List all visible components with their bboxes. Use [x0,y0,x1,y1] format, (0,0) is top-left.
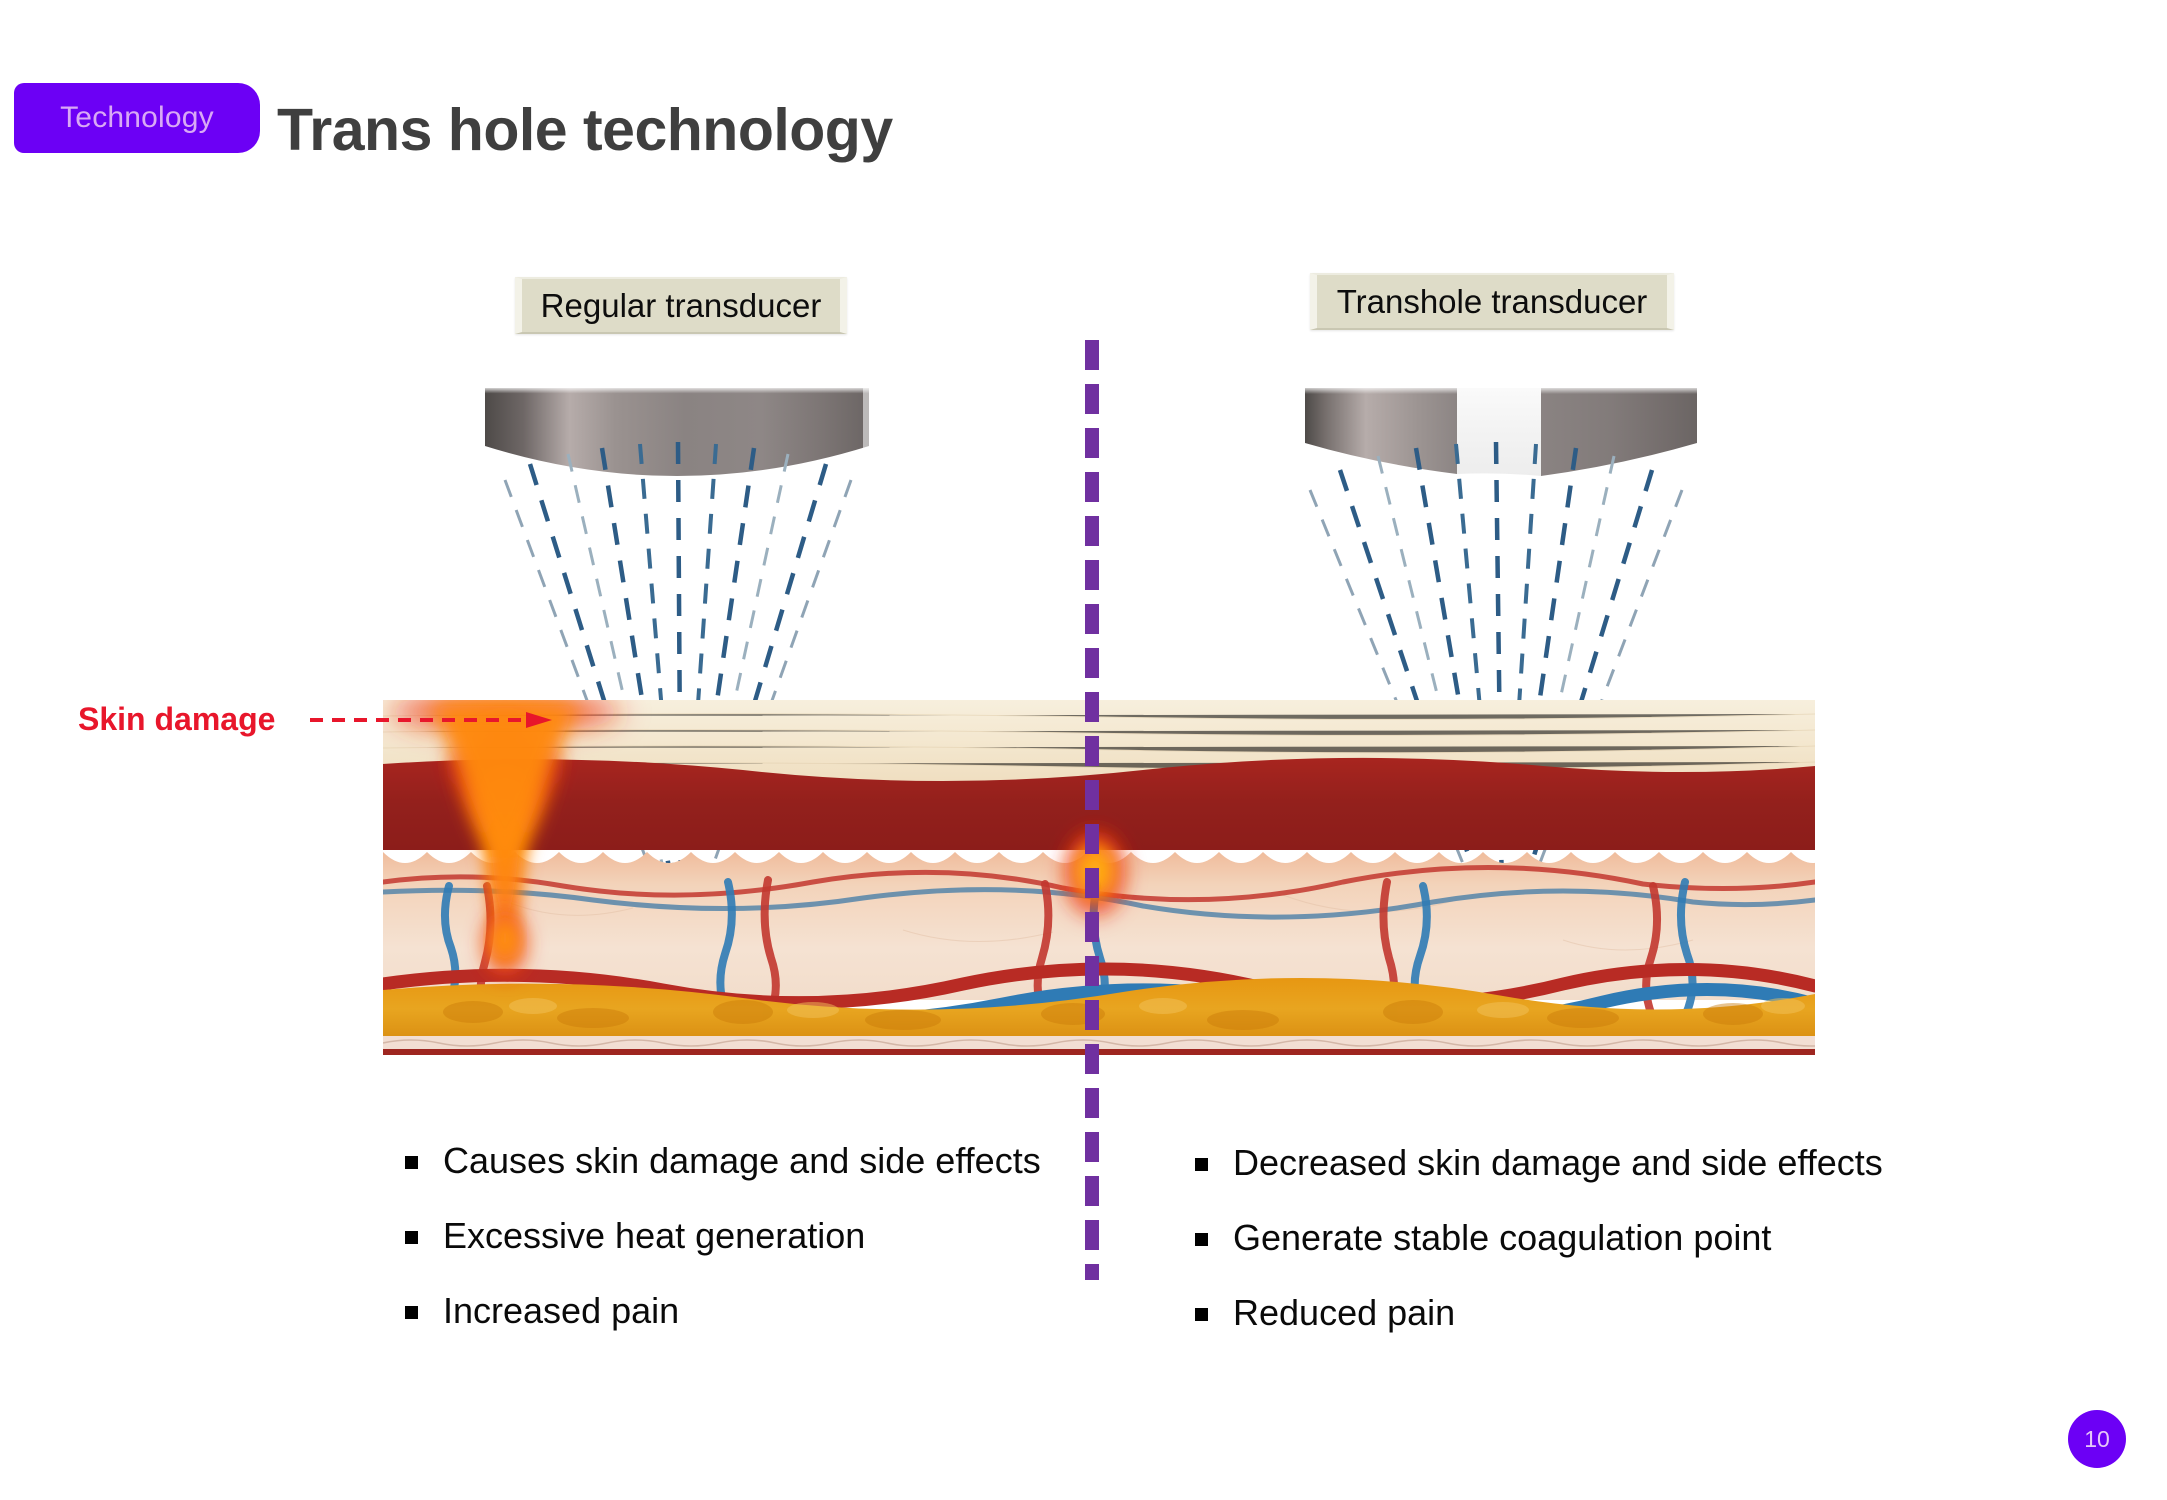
bullet-square-icon [405,1231,418,1244]
slide-canvas: Technology Trans hole technology Regular… [0,0,2167,1500]
list-item: Decreased skin damage and side effects [1195,1140,1883,1185]
bullet-square-icon [405,1306,418,1319]
bullet-list-regular: Causes skin damage and side effects Exce… [405,1138,1041,1363]
bullet-square-icon [1195,1308,1208,1321]
list-item: Reduced pain [1195,1290,1883,1335]
skin-damage-arrow-icon [310,712,554,728]
kicker-label: Technology [60,101,214,135]
list-item-label: Increased pain [443,1288,679,1333]
list-item: Excessive heat generation [405,1213,1041,1258]
column-label-transhole: Transhole transducer [1310,273,1674,330]
bullet-list-transhole: Decreased skin damage and side effects G… [1195,1140,1883,1365]
list-item: Increased pain [405,1288,1041,1333]
column-label-regular-text: Regular transducer [541,287,822,325]
list-item-label: Reduced pain [1233,1290,1455,1335]
skin-cross-section-illustration [383,700,1815,1055]
column-label-regular: Regular transducer [515,277,847,334]
bullet-square-icon [405,1156,418,1169]
bullet-square-icon [1195,1158,1208,1171]
list-item: Causes skin damage and side effects [405,1138,1041,1183]
list-item: Generate stable coagulation point [1195,1215,1883,1260]
list-item-label: Generate stable coagulation point [1233,1215,1771,1260]
skin-damage-label: Skin damage [78,701,275,738]
list-item-label: Decreased skin damage and side effects [1233,1140,1883,1185]
page-title: Trans hole technology [277,96,893,164]
list-item-label: Causes skin damage and side effects [443,1138,1041,1183]
column-label-transhole-text: Transhole transducer [1337,283,1648,321]
bullet-square-icon [1195,1233,1208,1246]
page-number-badge: 10 [2068,1410,2126,1468]
page-number-label: 10 [2084,1426,2110,1453]
kicker-badge: Technology [14,83,260,153]
list-item-label: Excessive heat generation [443,1213,865,1258]
center-divider [1085,340,1099,1280]
